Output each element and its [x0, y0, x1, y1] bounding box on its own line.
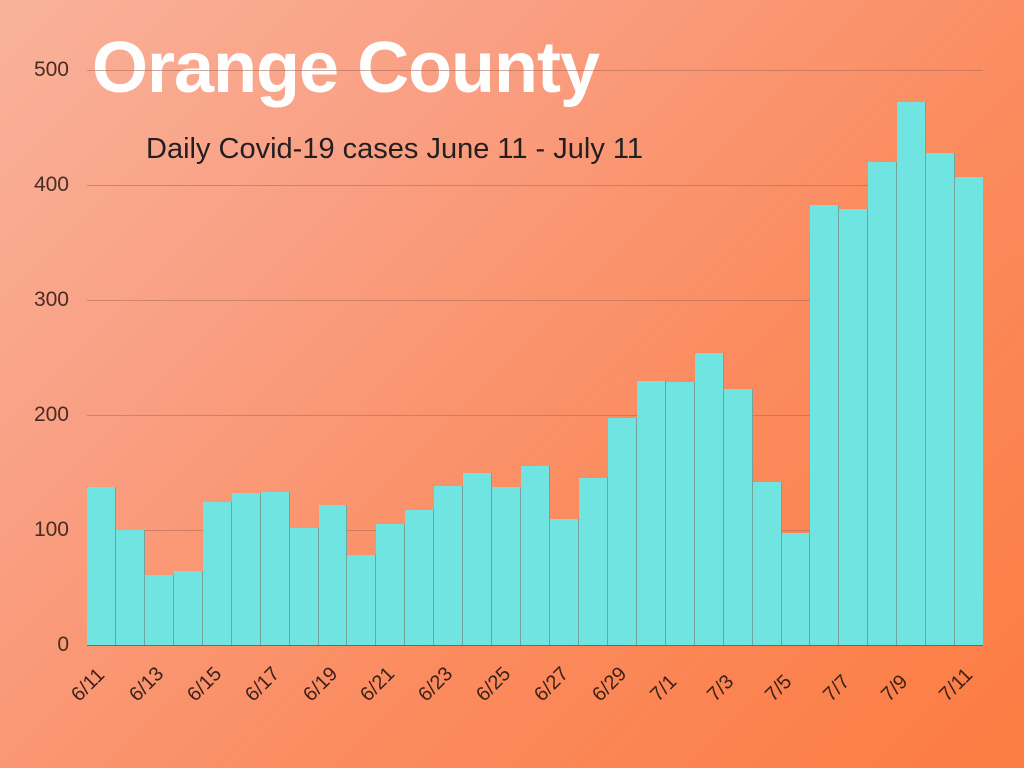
- y-axis-tick-label: 200: [34, 403, 69, 427]
- y-axis-tick-label: 300: [34, 288, 69, 312]
- x-axis-tick-label: 6/15: [183, 663, 227, 707]
- bar-7-2[interactable]: [695, 353, 724, 645]
- x-axis-tick-label: 6/23: [414, 663, 458, 707]
- y-axis-labels: 0100200300400500: [0, 70, 87, 645]
- bar-6-14[interactable]: [174, 571, 203, 645]
- bar-7-11[interactable]: [955, 177, 983, 645]
- bar-6-24[interactable]: [463, 473, 492, 646]
- x-axis-tick-label: 6/27: [530, 663, 574, 707]
- gridline-0: [87, 645, 983, 646]
- bar-6-29[interactable]: [608, 418, 637, 645]
- bar-6-15[interactable]: [203, 502, 232, 645]
- bar-6-28[interactable]: [579, 478, 608, 645]
- bar-6-23[interactable]: [434, 486, 463, 645]
- bar-6-11[interactable]: [87, 487, 116, 645]
- bar-7-5[interactable]: [782, 533, 811, 645]
- y-axis-tick-label: 500: [34, 58, 69, 82]
- bar-6-22[interactable]: [405, 510, 434, 645]
- bar-6-30[interactable]: [637, 381, 666, 646]
- y-axis-tick-label: 100: [34, 518, 69, 542]
- bar-6-20[interactable]: [347, 555, 376, 645]
- bar-series: [87, 70, 983, 645]
- bar-6-13[interactable]: [145, 575, 174, 645]
- bar-6-25[interactable]: [492, 487, 521, 645]
- x-axis-tick-label: 7/1: [646, 671, 682, 707]
- plot-area: [87, 70, 983, 645]
- x-axis-tick-label: 7/5: [761, 671, 797, 707]
- x-axis-tick-label: 6/17: [241, 663, 285, 707]
- x-axis-tick-label: 6/21: [357, 663, 401, 707]
- x-axis-tick-label: 6/11: [67, 664, 110, 707]
- x-axis-tick-label: 7/7: [819, 671, 855, 707]
- y-axis-tick-label: 0: [57, 633, 69, 657]
- bar-7-3[interactable]: [724, 389, 753, 645]
- bar-7-10[interactable]: [926, 153, 955, 645]
- chart-poster: Orange County Daily Covid-19 cases June …: [0, 0, 1024, 768]
- bar-7-7[interactable]: [839, 209, 868, 645]
- x-axis-tick-label: 6/19: [299, 663, 343, 707]
- x-axis-tick-label: 7/11: [935, 664, 978, 707]
- bar-7-9[interactable]: [897, 102, 926, 645]
- bar-7-1[interactable]: [666, 382, 695, 645]
- bar-7-8[interactable]: [868, 162, 897, 645]
- x-axis-labels: 6/116/136/156/176/196/216/236/256/276/29…: [87, 648, 983, 748]
- x-axis-tick-label: 6/13: [125, 663, 169, 707]
- x-axis-tick-label: 6/25: [472, 663, 516, 707]
- x-axis-tick-label: 7/9: [877, 671, 913, 707]
- x-axis-tick-label: 7/3: [703, 671, 739, 707]
- bar-7-4[interactable]: [753, 482, 782, 645]
- bar-6-26[interactable]: [521, 466, 550, 645]
- bar-6-16[interactable]: [232, 493, 261, 645]
- bar-7-6[interactable]: [810, 205, 839, 645]
- bar-6-21[interactable]: [376, 524, 405, 645]
- bar-6-18[interactable]: [290, 528, 319, 645]
- bar-6-19[interactable]: [319, 505, 348, 645]
- y-axis-tick-label: 400: [34, 173, 69, 197]
- x-axis-tick-label: 6/29: [588, 663, 632, 707]
- bar-6-27[interactable]: [550, 519, 579, 646]
- bar-6-17[interactable]: [261, 492, 290, 645]
- bar-6-12[interactable]: [116, 530, 145, 645]
